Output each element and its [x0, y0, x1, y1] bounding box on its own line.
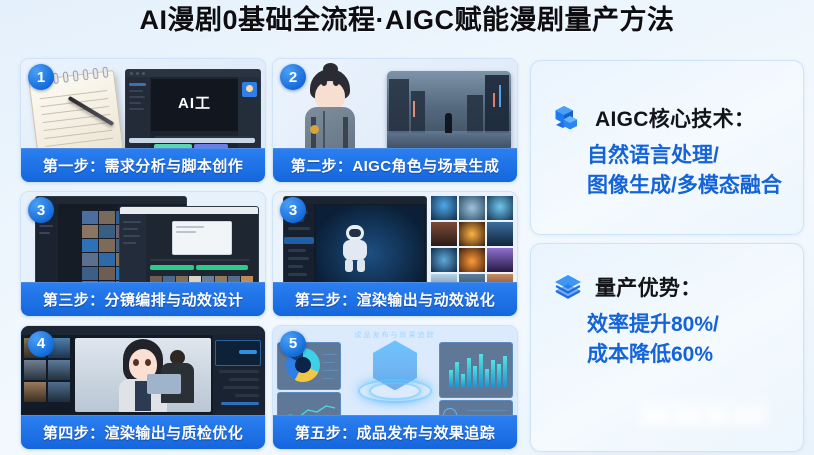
scene-video-qc-editor — [21, 326, 265, 416]
step-thumbnail-3 — [21, 192, 265, 282]
info-panel-lines: 自然语言处理/ 图像生成/多模态融合 — [587, 141, 782, 201]
step-thumbnail-4 — [273, 192, 517, 282]
info-panel-title: 量产优势： — [595, 272, 702, 302]
info-panel-header: AIGC核心技术： — [553, 103, 755, 133]
info-line: 自然语言处理/ — [587, 141, 782, 171]
astronaut-render — [340, 225, 370, 271]
step-card-3[interactable]: 3 第三步：分镜编排与动效设计 — [20, 191, 266, 316]
scene-character-and-scene — [273, 59, 517, 149]
dashboard-title: 成品发布与效果追踪 — [273, 330, 517, 340]
scene-script-notebook-editor: AI工 — [21, 59, 265, 149]
page-title: AI漫剧0基础全流程·AIGC赋能漫剧量产方法 — [139, 6, 674, 36]
step-badge-2: 2 — [280, 64, 306, 90]
step-card-2[interactable]: 2 第二步：AIGC角色与场景生成 — [272, 58, 518, 183]
step-card-6[interactable]: 成品发布与效果追踪 — [272, 325, 518, 450]
step-card-4[interactable]: 3 第三步：渲染输出与动效说化 — [272, 191, 518, 316]
line-chart — [281, 402, 335, 416]
info-panel-lines: 效率提升80%/ 成本降低60% — [587, 310, 719, 370]
step-badge-6: 5 — [280, 331, 306, 357]
hud-ring-inner — [369, 382, 421, 400]
cube-blocks-icon — [553, 103, 583, 133]
scene-preview-image — [387, 71, 511, 149]
character-avatar — [299, 67, 361, 149]
page-title-wrap: AI漫剧0基础全流程·AIGC赋能漫剧量产方法 — [0, 6, 814, 36]
step-caption-3: 第三步：分镜编排与动效设计 — [21, 282, 265, 316]
info-panel-header: 量产优势： — [553, 272, 702, 302]
step-caption-1: 第一步：需求分析与脚本创作 — [21, 148, 265, 182]
info-panel-aigc-core-tech: AIGC核心技术： 自然语言处理/ 图像生成/多模态融合 — [530, 60, 804, 235]
step-thumbnail-6: 成品发布与效果追踪 — [273, 326, 517, 416]
info-panel-mass-production-advantage: 量产优势： 效率提升80%/ 成本降低60% — [530, 243, 804, 452]
scene-storyboard-editor — [21, 192, 265, 282]
step-caption-2: 第二步：AIGC角色与场景生成 — [273, 148, 517, 182]
steps-grid: AI工 1 第一步：需求分析与脚本创作 — [20, 58, 518, 450]
step-thumbnail-1: AI工 — [21, 59, 265, 149]
info-line: 效率提升80%/ — [587, 310, 719, 340]
step-card-5[interactable]: 4 第四步：渲染输出与质检优化 — [20, 325, 266, 450]
info-line: 成本降低60% — [587, 340, 719, 370]
step-badge-1: 1 — [28, 64, 54, 90]
render-gallery-grid — [431, 196, 513, 282]
info-panel-title: AIGC核心技术： — [595, 103, 755, 133]
info-line: 图像生成/多模态融合 — [587, 171, 782, 201]
editor-screen-text: AI工 — [151, 92, 238, 113]
step-thumbnail-2 — [273, 59, 517, 149]
editor-window: AI工 — [125, 69, 261, 149]
scene-analytics-dashboard: 成品发布与效果追踪 — [273, 326, 517, 416]
scene-render-astronaut-gallery — [273, 192, 517, 282]
step-card-1[interactable]: AI工 1 第一步：需求分析与脚本创作 — [20, 58, 266, 183]
step-badge-5: 4 — [28, 331, 54, 357]
step-caption-5: 第四步：渲染输出与质检优化 — [21, 415, 265, 449]
step-thumbnail-5 — [21, 326, 265, 416]
step-caption-4: 第三步：渲染输出与动效说化 — [273, 282, 517, 316]
bar-chart — [449, 352, 507, 388]
stacked-layers-icon — [553, 272, 583, 302]
step-caption-6: 第五步：成品发布与效果追踪 — [273, 415, 517, 449]
watermark — [639, 399, 769, 427]
poster-root: AI漫剧0基础全流程·AIGC赋能漫剧量产方法 — [0, 0, 814, 455]
